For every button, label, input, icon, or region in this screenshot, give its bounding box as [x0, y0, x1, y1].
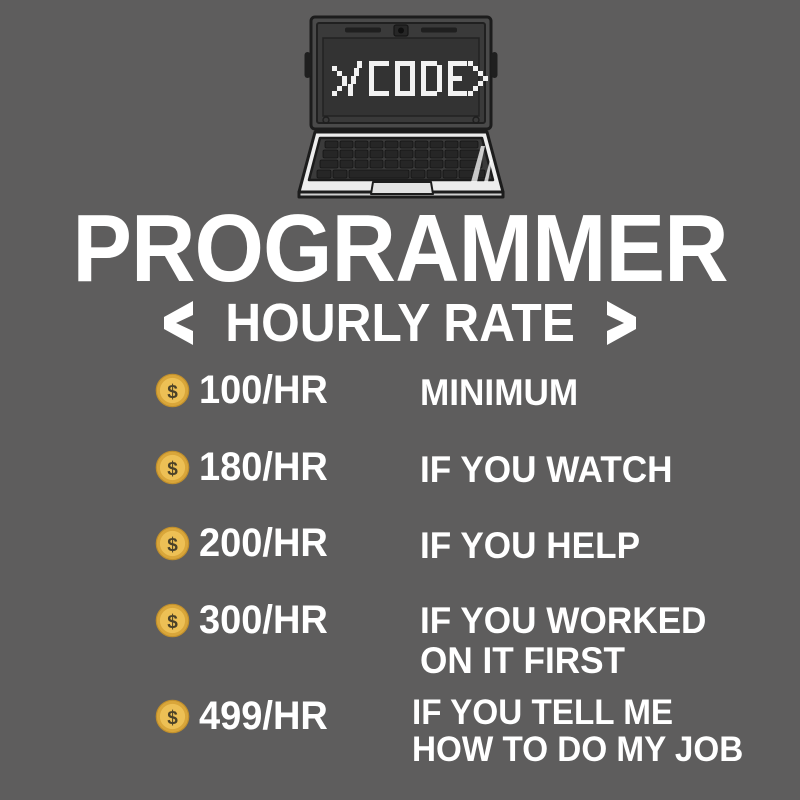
- rate-price: 499/HR: [199, 696, 328, 736]
- svg-text:$: $: [167, 382, 178, 403]
- rate-price: 300/HR: [199, 600, 328, 640]
- rate-price-group: $ 100/HR: [155, 370, 335, 410]
- dollar-coin-icon: $: [155, 603, 190, 638]
- rate-description: IF YOU HELP: [420, 526, 640, 566]
- dollar-coin-icon: $: [155, 526, 190, 561]
- svg-text:$: $: [167, 535, 178, 556]
- title-block: PROGRAMMER HOURLY RATE: [0, 203, 800, 350]
- laptop-illustration: [285, 14, 517, 200]
- rate-price: 200/HR: [199, 523, 328, 563]
- rate-description: MINIMUM: [420, 373, 578, 413]
- svg-text:$: $: [167, 459, 178, 480]
- dollar-coin-icon: $: [155, 699, 190, 734]
- svg-text:$: $: [167, 612, 178, 633]
- subtitle-row: HOURLY RATE: [0, 296, 800, 350]
- rate-description: IF YOU WATCH: [420, 450, 673, 490]
- rate-price-group: $ 300/HR: [155, 600, 335, 640]
- svg-text:$: $: [167, 708, 178, 729]
- rate-price-group: $ 200/HR: [155, 523, 335, 563]
- rate-price: 100/HR: [199, 370, 328, 410]
- dollar-coin-icon: $: [155, 450, 190, 485]
- left-chevron-icon: [162, 299, 196, 347]
- rate-price: 180/HR: [199, 447, 328, 487]
- rate-price-group: $ 180/HR: [155, 447, 335, 487]
- subtitle-text: HOURLY RATE: [225, 296, 575, 350]
- rate-description: IF YOU TELL ME HOW TO DO MY JOB: [412, 695, 743, 769]
- rate-price-group: $ 499/HR: [155, 696, 335, 736]
- rate-description: IF YOU WORKED ON IT FIRST: [420, 601, 706, 680]
- laptop-lid: [305, 17, 498, 129]
- page-title: PROGRAMMER: [28, 203, 772, 294]
- dollar-coin-icon: $: [155, 373, 190, 408]
- poster-canvas: PROGRAMMER HOURLY RATE $ 100/: [0, 0, 800, 800]
- laptop-base: [299, 132, 503, 197]
- right-chevron-icon: [604, 299, 638, 347]
